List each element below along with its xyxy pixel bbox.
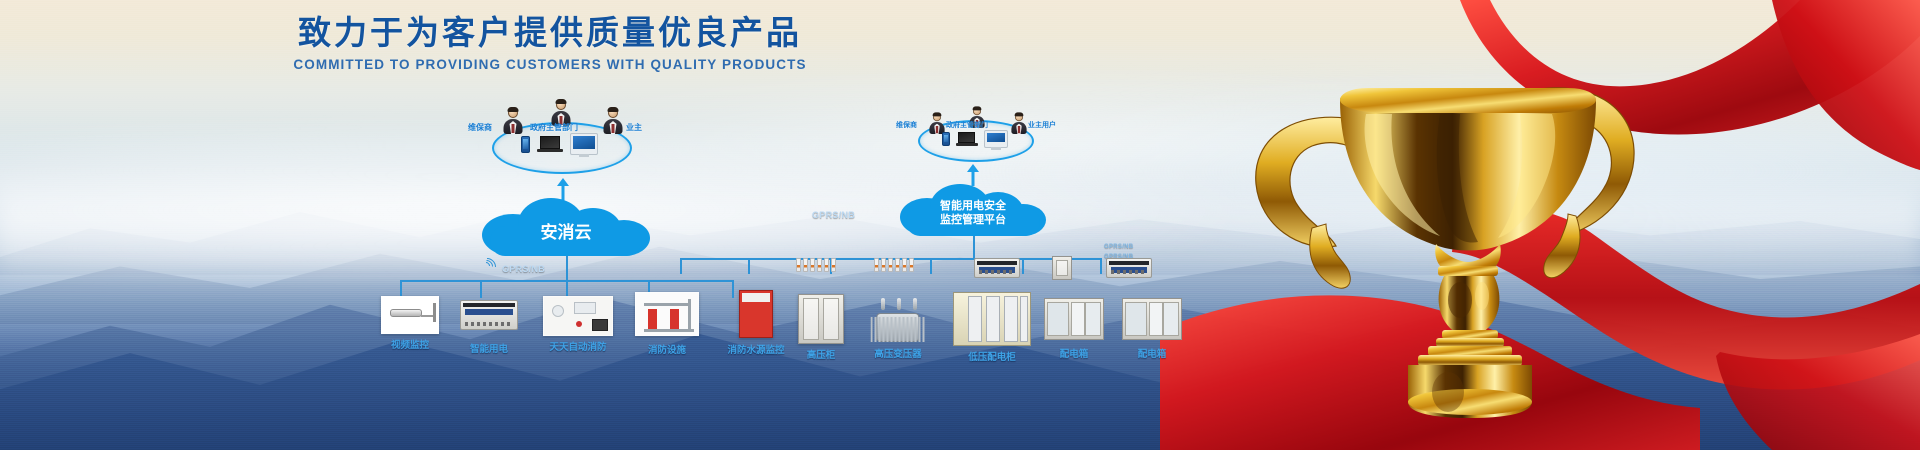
left-cloud-label: 安消云 [541, 222, 592, 244]
right-user-owner-avatar [1010, 113, 1028, 134]
left-user-label-0: 维保商 [468, 122, 492, 133]
right-device-label-3: 配电箱 [1034, 346, 1114, 360]
right-device-label-4: 配电箱 [1112, 346, 1192, 360]
right-device-2: 低压配电柜 [944, 292, 1040, 363]
trophy-handle-left [1256, 117, 1358, 247]
right-device-3: 配电箱 [1034, 298, 1114, 360]
left-device-label-2: 天天自动消防 [532, 339, 624, 353]
right-branch-1 [748, 258, 750, 274]
small-meter-icon [1052, 256, 1072, 280]
right-smartphone-icon [942, 132, 950, 146]
left-user-label-1: 政府主管部门 [530, 122, 578, 133]
promo-banner: 致力于为客户提供质量优良产品 COMMITTED TO PROVIDING CU… [0, 0, 1920, 450]
left-signal-wave-icon [480, 260, 500, 280]
left-device-label-3: 消防设施 [624, 342, 710, 356]
fire-panel-icon [543, 296, 613, 336]
left-bus-drop [566, 256, 568, 280]
trophy-knob-highlight [1475, 282, 1489, 310]
left-uplink-label: GPRS/NB [502, 264, 545, 274]
right-user-maintainer-avatar [928, 113, 946, 134]
trophy-base-shade [1432, 372, 1464, 412]
left-user-label-2: 业主 [626, 122, 642, 133]
left-desktop-monitor-icon [570, 133, 598, 155]
trophy-ring-5 [1418, 355, 1522, 366]
meter-controller-icon-1 [1106, 258, 1152, 278]
right-branch-0 [680, 258, 682, 274]
right-device-label-0: 高压柜 [786, 347, 856, 361]
right-desktop-monitor-icon [984, 130, 1008, 148]
left-device-label-1: 智能用电 [448, 341, 530, 355]
right-user-label-2: 业主用户 [1028, 120, 1056, 130]
trophy-ribbon-graphic [1160, 0, 1920, 450]
transformer-icon [867, 296, 929, 344]
lv-switchgear-icon [953, 292, 1031, 346]
right-user-label-0: 维保商 [896, 120, 917, 130]
headline-block: 致力于为客户提供质量优良产品 COMMITTED TO PROVIDING CU… [0, 12, 1100, 72]
right-device-1: 高压变压器 [856, 296, 940, 360]
right-device-4: 配电箱 [1112, 298, 1192, 360]
headline-chinese: 致力于为客户提供质量优良产品 [0, 12, 1100, 53]
meter-bank-1 [874, 258, 914, 272]
left-cloud-node: 安消云 [482, 200, 650, 256]
left-smartphone-icon [521, 136, 530, 153]
left-device-1: 智能用电 [448, 300, 530, 355]
left-device-strip: 视频监控 智能用电 天天自动消防 消防设 [380, 296, 800, 356]
right-device-label-2: 低压配电柜 [944, 349, 1040, 363]
trophy-ring-3 [1436, 338, 1504, 347]
right-device-label-1: 高压变压器 [856, 346, 940, 360]
fire-pipes-icon [635, 292, 699, 336]
right-device-0: 高压柜 [786, 294, 856, 361]
power-controller-icon [460, 300, 518, 330]
trophy-knob-shade [1448, 282, 1472, 318]
left-laptop-icon [537, 136, 563, 154]
left-device-2: 天天自动消防 [532, 296, 624, 353]
right-cloud-node: 智能用电安全 监控管理平台 [900, 182, 1046, 236]
hv-cabinet-icon [798, 294, 844, 344]
fire-cabinet-icon [739, 290, 773, 338]
trophy-ring-1 [1438, 266, 1498, 276]
right-cloud-label-line2: 监控管理平台 [940, 213, 1006, 227]
security-camera-icon [381, 296, 439, 334]
headline-english: COMMITTED TO PROVIDING CUSTOMERS WITH QU… [0, 57, 1100, 72]
left-device-label-0: 视频监控 [370, 337, 450, 351]
distribution-box-icon-0 [1044, 298, 1104, 340]
left-user-maintainer-avatar [502, 108, 524, 134]
trophy-rim [1340, 88, 1596, 113]
trophy-ring-4 [1428, 346, 1512, 356]
right-uplink-label: GPRS/NB [812, 210, 855, 220]
left-device-0: 视频监控 [370, 296, 450, 351]
right-laptop-icon [956, 132, 978, 148]
trophy-handle-left-curl [1310, 224, 1351, 288]
left-user-owner-avatar [602, 108, 624, 134]
right-device-strip: 高压柜 高压变压器 低压配电柜 [790, 250, 1210, 370]
left-device-3: 消防设施 [624, 292, 710, 356]
meter-controller-icon-0 [974, 258, 1020, 278]
meter-bank-0 [796, 258, 836, 272]
trophy-base-foot [1408, 389, 1532, 415]
right-user-label-1: 政府主管部门 [946, 120, 988, 130]
left-system-diagram: 维保商 政府主管部门 业主 安消云 [380, 100, 780, 420]
trophy-ring-2 [1442, 330, 1498, 339]
right-cloud-label-line1: 智能用电安全 [940, 199, 1006, 213]
distribution-box-icon-1 [1122, 298, 1182, 340]
